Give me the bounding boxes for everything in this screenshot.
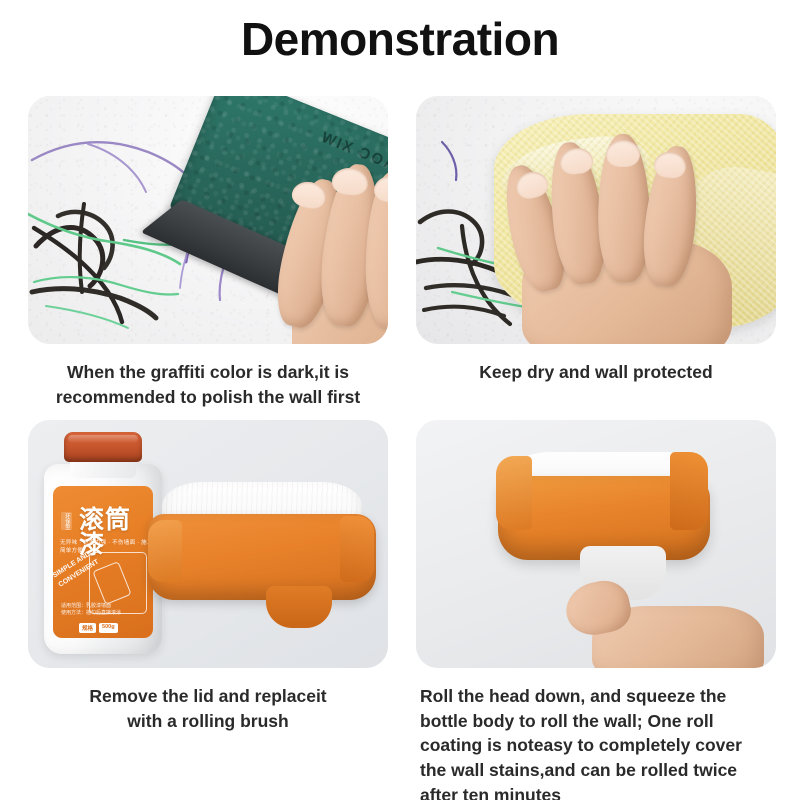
roller-frame [148, 514, 376, 600]
hand-squeezing-bottle [566, 570, 766, 668]
roller-arm-left [496, 456, 532, 530]
roller-stem [266, 586, 332, 628]
product-label: 环保型 滚筒漆 无异味 · 遮盖力强 · 不伤墙面 · 施工简单方便 SIMPL… [53, 486, 153, 638]
label-weight-value: 500g [99, 623, 118, 633]
label-weight: 规格 500g [79, 623, 118, 633]
hand-holding-sponge [172, 122, 388, 344]
step-3-photo: 环保型 滚筒漆 无异味 · 遮盖力强 · 不伤墙面 · 施工简单方便 SIMPL… [28, 420, 388, 668]
fingernail [606, 140, 640, 168]
step-card-3: 环保型 滚筒漆 无异味 · 遮盖力强 · 不伤墙面 · 施工简单方便 SIMPL… [28, 420, 388, 800]
roller-brush-head [148, 482, 378, 652]
bottle-cap [64, 432, 142, 462]
step-2-caption: Keep dry and wall protected [416, 344, 776, 385]
label-usage-text: 适用范围：乳胶漆墙面 使用方法：摇匀后直接滚涂 [61, 603, 121, 618]
demonstration-page: Demonstration [0, 0, 800, 800]
step-4-caption: Roll the head down, and squeeze the bott… [416, 668, 776, 800]
steps-grid: DETAOC XIW SA 8 2 1 When the graffiti co… [28, 96, 776, 800]
roller-arm-left [148, 520, 182, 582]
step-2-photo [416, 96, 776, 344]
paint-bottle: 环保型 滚筒漆 无异味 · 遮盖力强 · 不伤墙面 · 施工简单方便 SIMPL… [44, 432, 162, 654]
step-card-1: DETAOC XIW SA 8 2 1 When the graffiti co… [28, 96, 388, 410]
step-1-photo: DETAOC XIW SA 8 2 1 [28, 96, 388, 344]
page-title: Demonstration [0, 0, 800, 65]
roller-arm-right [670, 452, 708, 530]
step-card-4: Roll the head down, and squeeze the bott… [416, 420, 776, 800]
hand-wiping-wall [508, 120, 758, 344]
step-1-caption: When the graffiti color is dark,it is re… [28, 344, 388, 410]
step-3-caption: Remove the lid and replaceit with a roll… [28, 668, 388, 734]
label-badge: 环保型 [61, 512, 72, 531]
step-4-photo [416, 420, 776, 668]
step-card-2: Keep dry and wall protected [416, 96, 776, 410]
label-weight-key: 规格 [79, 623, 96, 633]
roller-arm-right [340, 516, 374, 582]
